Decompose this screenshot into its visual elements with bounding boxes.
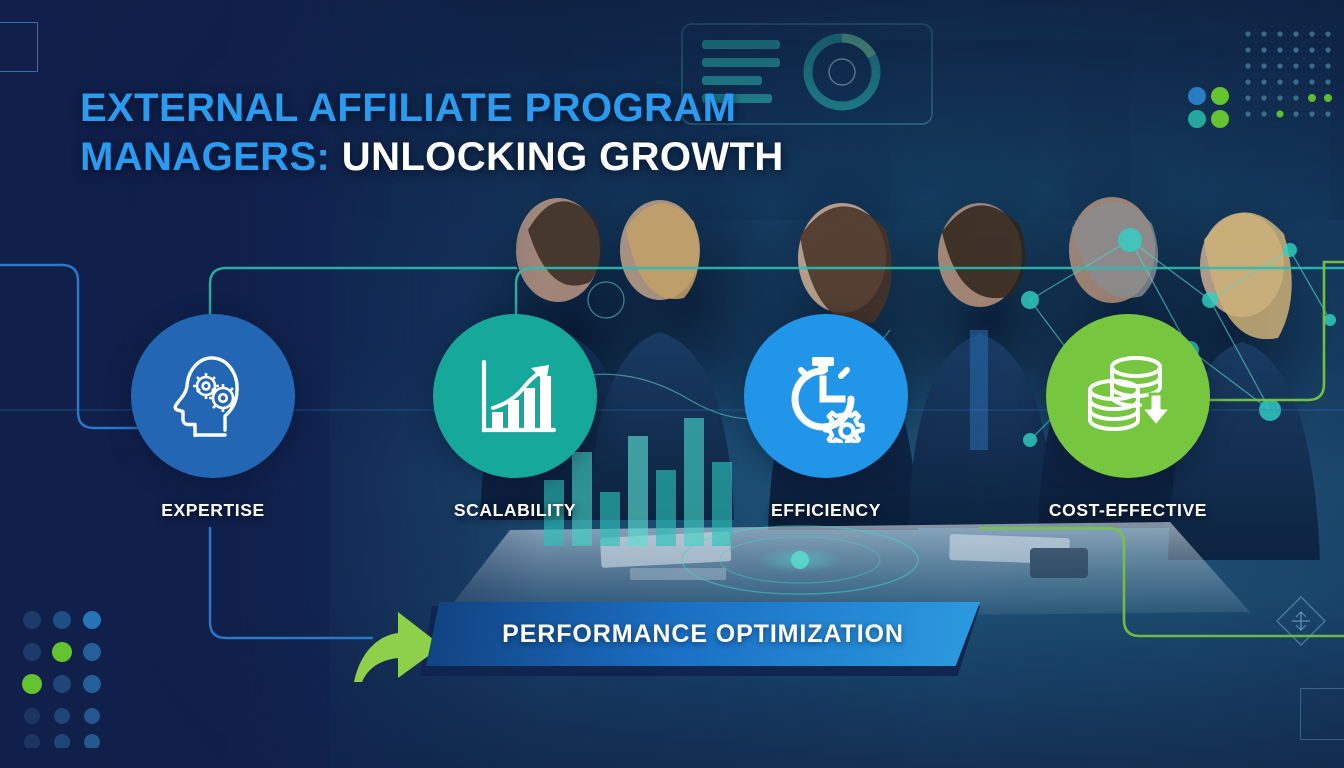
pillar-efficiency[interactable]: EFFICIENCY bbox=[716, 314, 936, 521]
stopwatch-gear-icon bbox=[779, 349, 873, 443]
growth-bar-chart-arrow-icon bbox=[469, 350, 561, 442]
title-line-2-highlight: MANAGERS: bbox=[80, 135, 330, 179]
pillar-scalability[interactable]: SCALABILITY bbox=[405, 314, 625, 521]
pillar-cost-effective[interactable]: COST-EFFECTIVE bbox=[1018, 314, 1238, 521]
coin-stack-down-arrow-icon bbox=[1080, 350, 1176, 442]
head-with-gears-icon bbox=[167, 350, 259, 442]
title-line-1-text: EXTERNAL AFFILIATE PROGRAM bbox=[80, 86, 736, 130]
banner-label: PERFORMANCE OPTIMIZATION bbox=[502, 620, 904, 649]
pillar-scalability-label: SCALABILITY bbox=[405, 500, 625, 521]
pillar-cost-effective-label: COST-EFFECTIVE bbox=[1018, 500, 1238, 521]
pillar-expertise[interactable]: EXPERTISE bbox=[103, 314, 323, 521]
pillar-cost-effective-circle[interactable] bbox=[1046, 314, 1210, 478]
infographic-canvas: EXTERNAL AFFILIATE PROGRAM MANAGERS: UNL… bbox=[0, 0, 1344, 768]
title-line-2-rest: UNLOCKING GROWTH bbox=[330, 135, 783, 179]
performance-banner[interactable]: PERFORMANCE OPTIMIZATION bbox=[330, 600, 990, 682]
pillar-scalability-circle[interactable] bbox=[433, 314, 597, 478]
banner-shape[interactable]: PERFORMANCE OPTIMIZATION bbox=[426, 602, 980, 666]
title-line-1: EXTERNAL AFFILIATE PROGRAM bbox=[80, 84, 840, 133]
pillar-expertise-label: EXPERTISE bbox=[103, 500, 323, 521]
pillar-expertise-circle[interactable] bbox=[131, 314, 295, 478]
pillar-efficiency-label: EFFICIENCY bbox=[716, 500, 936, 521]
connector-green-right-bottom bbox=[980, 528, 1344, 636]
title-line-2: MANAGERS: UNLOCKING GROWTH bbox=[80, 133, 840, 182]
page-title: EXTERNAL AFFILIATE PROGRAM MANAGERS: UNL… bbox=[80, 84, 840, 182]
pillar-efficiency-circle[interactable] bbox=[744, 314, 908, 478]
